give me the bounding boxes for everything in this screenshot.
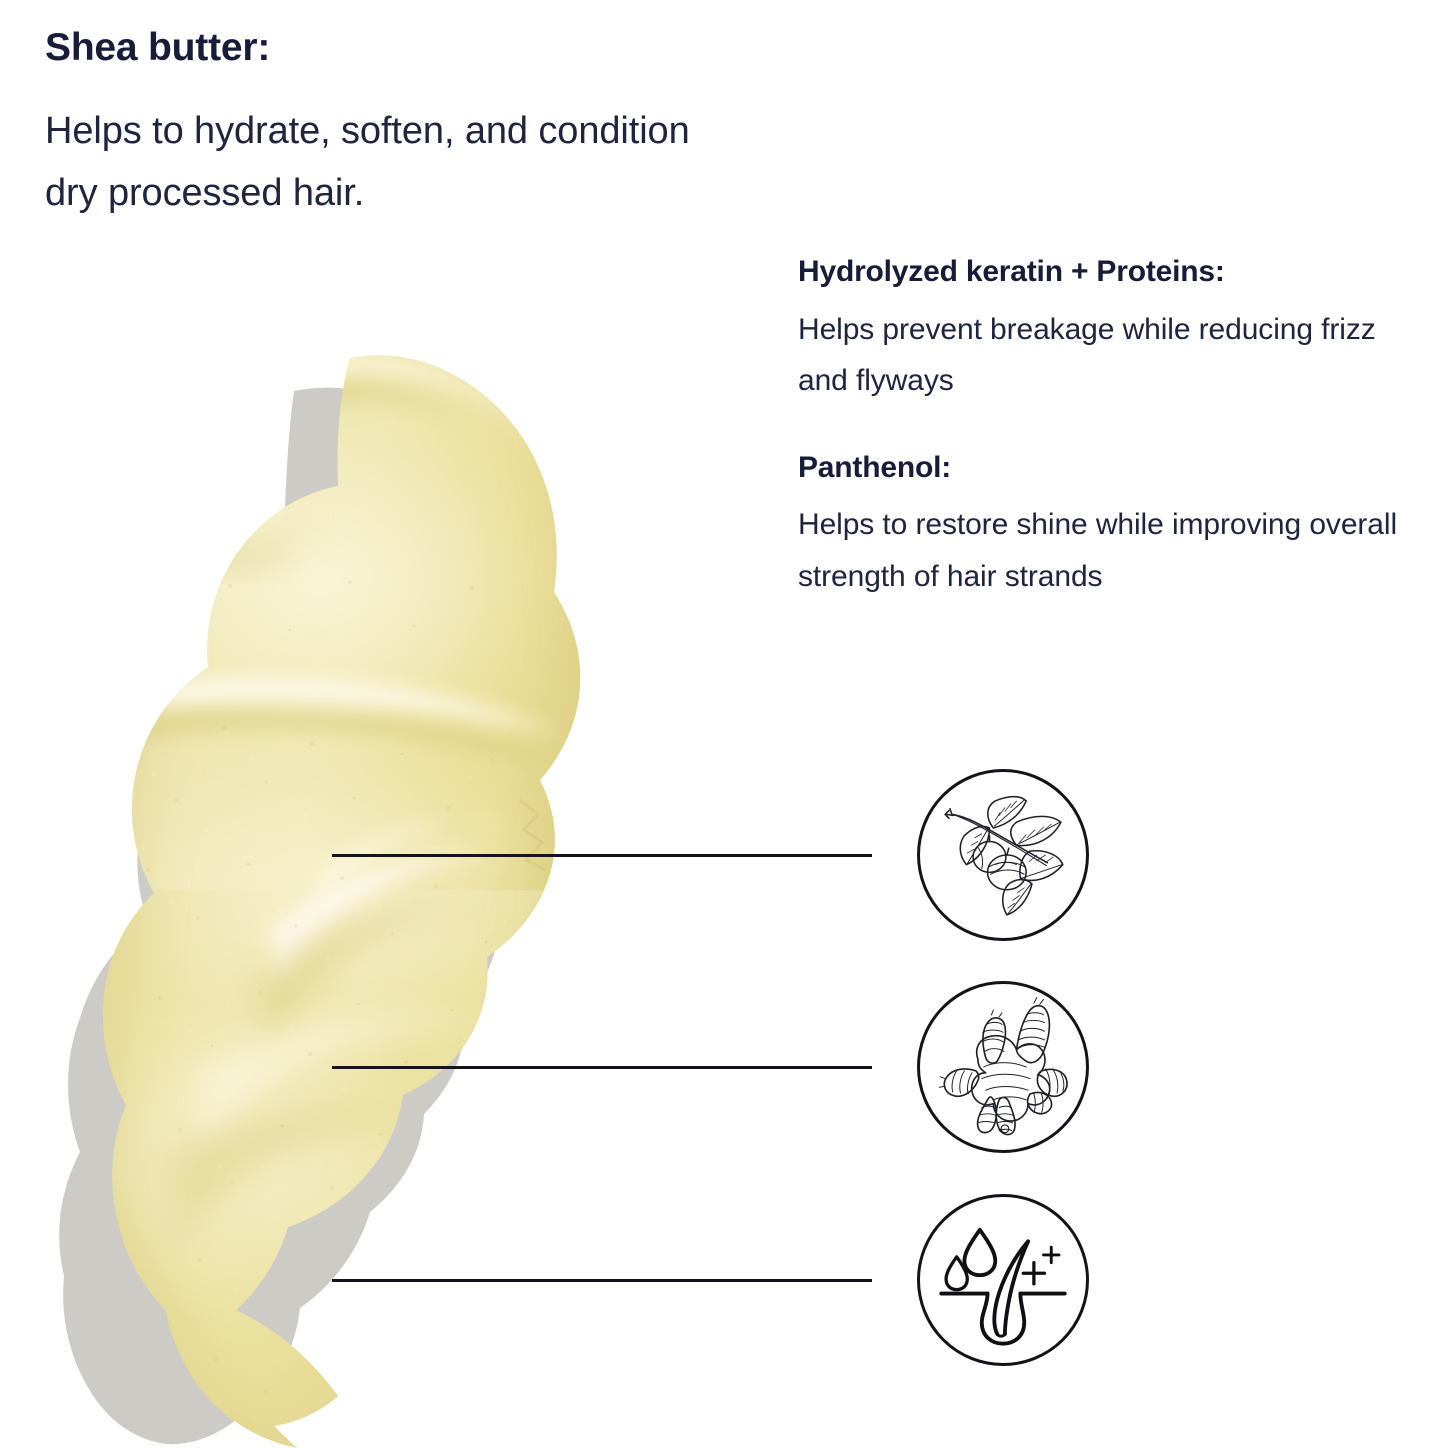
hair-follicle-hydration-icon [917,1194,1089,1366]
olive-branch-icon [917,769,1089,941]
product-ingredient-panel: Shea butter: Helps to hydrate, soften, a… [0,0,1445,1445]
connector-line-1 [332,854,872,857]
ingredient-title: Hydrolyzed keratin + Proteins: [798,255,1398,290]
ingredient-block-panthenol: Panthenol: Helps to restore shine while … [798,451,1398,603]
ingredient-title: Panthenol: [798,451,1398,486]
ingredient-description: Helps prevent breakage while reducing fr… [798,304,1398,407]
ginger-root-icon [917,981,1089,1153]
shea-butter-description: Helps to hydrate, soften, and condition … [45,101,745,224]
ingredient-copy-column: Hydrolyzed keratin + Proteins: Helps pre… [798,255,1398,602]
page-title: Shea butter: [45,28,745,67]
ingredient-description: Helps to restore shine while improving o… [798,499,1398,602]
shea-butter-smear [20,330,630,1450]
ingredient-block-keratin: Hydrolyzed keratin + Proteins: Helps pre… [798,255,1398,407]
connector-line-3 [332,1279,872,1282]
shea-butter-copy-block: Shea butter: Helps to hydrate, soften, a… [45,28,745,224]
connector-line-2 [332,1066,872,1069]
